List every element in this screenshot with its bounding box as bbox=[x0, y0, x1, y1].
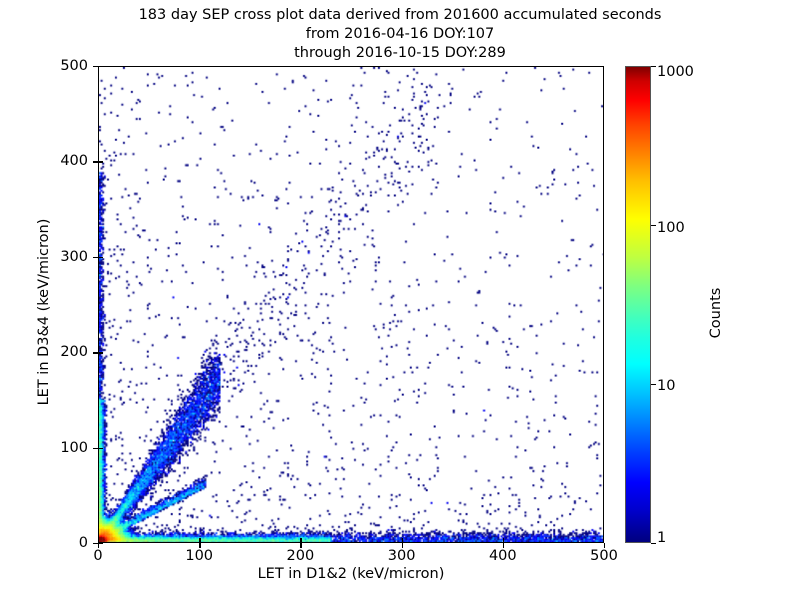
title-line-2: from 2016-04-16 DOY:107 bbox=[0, 25, 800, 44]
figure-canvas: 183 day SEP cross plot data derived from… bbox=[0, 0, 800, 600]
x-axis-label: LET in D1&2 (keV/micron) bbox=[98, 566, 604, 582]
yticklabel-500: 500 bbox=[28, 58, 88, 74]
xticklabel-400: 400 bbox=[473, 548, 533, 564]
plot-area[interactable] bbox=[98, 66, 604, 543]
ytick-0-inner bbox=[98, 543, 103, 544]
ytick-400-inner bbox=[98, 161, 103, 162]
colorbar bbox=[625, 66, 651, 543]
colorbar-label: Counts bbox=[708, 233, 724, 393]
xtick-400-inner bbox=[503, 538, 504, 543]
cbticklabel-1000: 1000 bbox=[657, 64, 694, 80]
xticklabel-100: 100 bbox=[169, 548, 229, 564]
cbtick-10 bbox=[651, 384, 656, 385]
xtick-200-inner bbox=[300, 538, 301, 543]
ytick-200-inner bbox=[98, 352, 103, 353]
scatter-density-plot bbox=[99, 67, 603, 542]
page-title: 183 day SEP cross plot data derived from… bbox=[0, 6, 800, 63]
y-axis-label: LET in D3&4 (keV/micron) bbox=[36, 162, 52, 462]
cbtick-100 bbox=[651, 225, 656, 226]
xtick-300-inner bbox=[402, 538, 403, 543]
ytick-500 bbox=[93, 66, 98, 67]
cbticklabel-100: 100 bbox=[657, 220, 685, 236]
cbticklabel-10: 10 bbox=[657, 378, 675, 394]
xticklabel-200: 200 bbox=[270, 548, 330, 564]
xtick-100-inner bbox=[199, 538, 200, 543]
title-line-1: 183 day SEP cross plot data derived from… bbox=[0, 6, 800, 25]
cbticklabel-1: 1 bbox=[657, 530, 666, 546]
ytick-100-inner bbox=[98, 448, 103, 449]
cbtick-1 bbox=[651, 543, 656, 544]
ytick-300-inner bbox=[98, 257, 103, 258]
title-line-3: through 2016-10-15 DOY:289 bbox=[0, 44, 800, 63]
yticklabel-0: 0 bbox=[28, 535, 88, 551]
cbtick-1000 bbox=[651, 66, 656, 67]
xticklabel-500: 500 bbox=[574, 548, 634, 564]
xticklabel-300: 300 bbox=[372, 548, 432, 564]
